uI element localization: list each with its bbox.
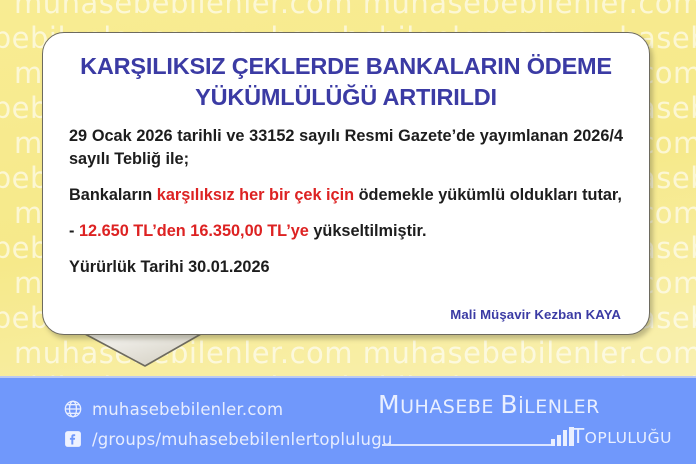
p2-segment-1: Bankaların (69, 186, 157, 204)
paragraph-3: - 12.650 TL’den 16.350,00 TL’ye yükselti… (69, 220, 623, 243)
logo-line-1: MUHASEBE BİLENLER (378, 390, 678, 419)
logo-l1-b: UHASEBE (400, 396, 500, 418)
logo-l1-a: M (378, 390, 400, 419)
logo-l1-d: İLENLER (518, 396, 600, 418)
paragraph-2: Bankaların karşılıksız her bir çek için … (69, 184, 623, 207)
speech-bubble: KARŞILIKSIZ ÇEKLERDE BANKALARIN ÖDEME YÜ… (40, 30, 654, 338)
logo-line-2: TOPLULUĞU (378, 424, 678, 448)
footer-bar: muhasebebilenler.com /groups/muhasebebil… (0, 376, 696, 464)
p3-segment-red: 12.650 TL’den 16.350,00 TL’ye (79, 222, 309, 240)
footer-website-text: muhasebebilenler.com (92, 400, 283, 419)
signature-text: Mali Müşavir Kezban KAYA (450, 307, 621, 322)
speech-bubble-body: KARŞILIKSIZ ÇEKLERDE BANKALARIN ÖDEME YÜ… (42, 32, 650, 335)
footer-link-facebook[interactable]: /groups/muhasebebilenlertoplulugu (62, 425, 393, 453)
poster-canvas: muhasebebilenler.com muhasebebilenler.co… (0, 0, 696, 464)
paragraph-4: Yürürlük Tarihi 30.01.2026 (69, 256, 623, 279)
p2-segment-3: ödemekle yükümlü oldukları tutar, (354, 186, 622, 204)
footer-links: muhasebebilenler.com /groups/muhasebebil… (62, 395, 393, 455)
p1-segment-1: 29 Ocak 2026 tarihli ve 33152 sayılı Res… (69, 127, 623, 168)
logo-l1-c: B (500, 390, 518, 419)
logo-l2-b: OPLULUĞU (585, 429, 672, 447)
p4-segment-1: Yürürlük Tarihi 30.01.2026 (69, 258, 270, 276)
title-line-2: YÜKÜMLÜLÜĞÜ ARTIRILDI (69, 82, 623, 113)
title-line-1: KARŞILIKSIZ ÇEKLERDE BANKALARIN ÖDEME (69, 51, 623, 82)
footer-facebook-text: /groups/muhasebebilenlertoplulugu (92, 430, 393, 449)
facebook-icon (62, 429, 83, 450)
p3-segment-3: yükseltilmiştir. (309, 222, 427, 240)
p2-segment-red: karşılıksız her bir çek için (157, 186, 354, 204)
globe-icon (62, 399, 83, 420)
logo-l2-a: T (572, 424, 585, 448)
brand-logo: MUHASEBE BİLENLER TOPLULUĞU (378, 388, 678, 458)
paragraph-1: 29 Ocak 2026 tarihli ve 33152 sayılı Res… (69, 125, 623, 171)
footer-link-website[interactable]: muhasebebilenler.com (62, 395, 393, 423)
p3-segment-dash: - (69, 222, 79, 240)
watermark-text: muhasebebilenler.com muhasebebilenler.co… (14, 0, 696, 20)
page-title: KARŞILIKSIZ ÇEKLERDE BANKALARIN ÖDEME YÜ… (69, 51, 623, 113)
